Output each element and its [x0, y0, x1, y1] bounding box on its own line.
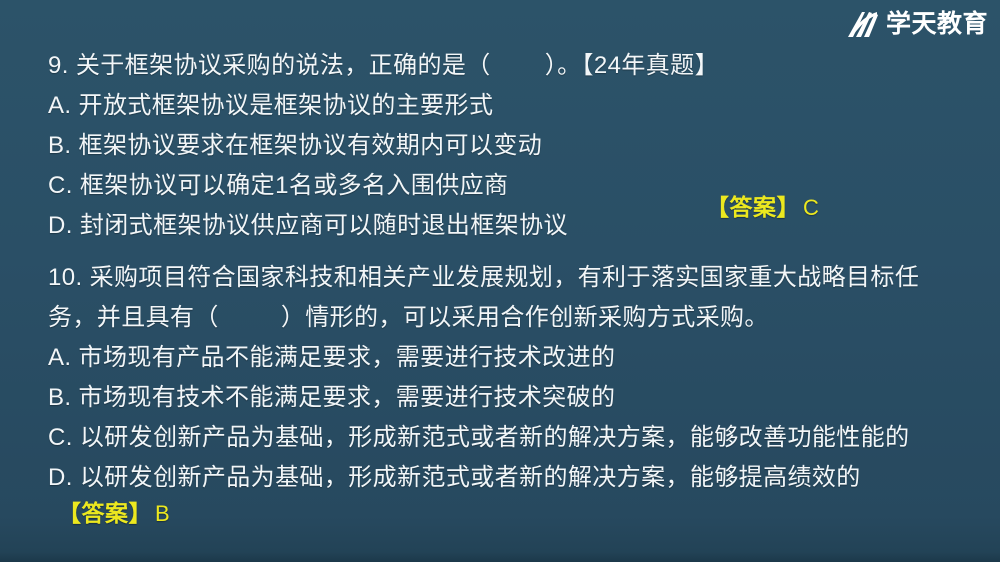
bottom-shadow-band: [0, 552, 1000, 562]
question-block-10: 10. 采购项目符合国家科技和相关产业发展规划，有利于落实国家重大战略目标任 务…: [48, 258, 980, 498]
question-9-option-d[interactable]: D. 封闭式框架协议供应商可以随时退出框架协议: [48, 206, 980, 246]
road-swoosh-icon: [845, 10, 879, 38]
question-9-option-c[interactable]: C. 框架协议可以确定1名或多名入围供应商: [48, 166, 980, 206]
question-9-answer-label: 【答案】: [706, 194, 800, 220]
question-9-stem-before: 9. 关于框架协议采购的说法，正确的是（: [48, 52, 491, 79]
brand-name: 学天教育: [886, 10, 988, 38]
question-9-stem: 9. 关于框架协议采购的说法，正确的是（）。【24年真题】: [48, 46, 980, 86]
brand-logo: 学天教育: [845, 9, 988, 39]
question-10-stem-after: ）情形的，可以采用合作创新采购方式采购。: [281, 304, 769, 331]
slide-canvas: 学天教育 9. 关于框架协议采购的说法，正确的是（）。【24年真题】 A. 开放…: [0, 0, 1000, 562]
question-10-option-c[interactable]: C. 以研发创新产品为基础，形成新范式或者新的解决方案，能够改善功能性能的: [48, 418, 980, 458]
question-9-option-a[interactable]: A. 开放式框架协议是框架协议的主要形式: [48, 86, 980, 126]
question-block-9: 9. 关于框架协议采购的说法，正确的是（）。【24年真题】 A. 开放式框架协议…: [48, 46, 980, 246]
question-10-answer-value: B: [152, 501, 170, 526]
question-10-option-b[interactable]: B. 市场现有技术不能满足要求，需要进行技术突破的: [48, 378, 980, 418]
question-10-answer: 【答案】B: [58, 498, 170, 529]
question-10-answer-label: 【答案】: [58, 500, 152, 526]
question-10-stem-line-2: 务，并且具有（）情形的，可以采用合作创新采购方式采购。: [48, 298, 980, 338]
question-10-option-d[interactable]: D. 以研发创新产品为基础，形成新范式或者新的解决方案，能够提高绩效的: [48, 458, 980, 498]
question-9-answer: 【答案】C: [706, 192, 819, 223]
question-9-answer-value: C: [800, 195, 819, 220]
question-9-option-b[interactable]: B. 框架协议要求在框架协议有效期内可以变动: [48, 126, 980, 166]
question-10-option-a[interactable]: A. 市场现有产品不能满足要求，需要进行技术改进的: [48, 338, 980, 378]
question-10-stem-before: 务，并且具有（: [48, 304, 219, 331]
question-10-stem-line-1: 10. 采购项目符合国家科技和相关产业发展规划，有利于落实国家重大战略目标任: [48, 258, 980, 298]
question-9-stem-after: ）。【24年真题】: [545, 52, 719, 79]
